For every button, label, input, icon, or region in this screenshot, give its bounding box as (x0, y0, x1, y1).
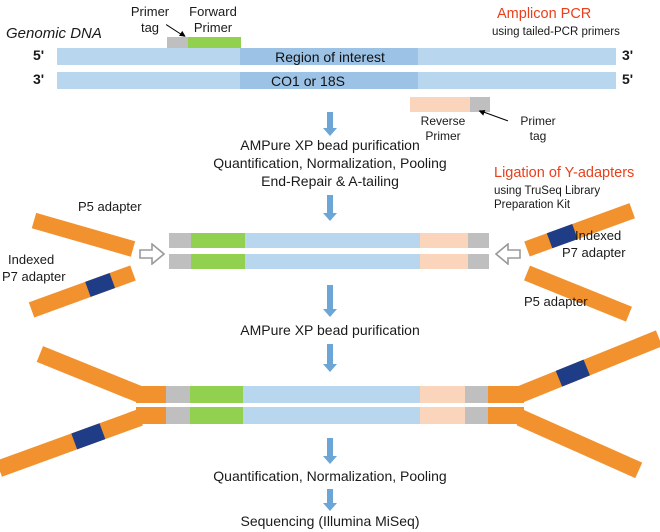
reverse-primer-segment (420, 233, 468, 248)
right-p7-adapter-label-line1: Indexed (575, 228, 621, 244)
left-p5-adapter-label: P5 adapter (78, 199, 142, 215)
reverse-primer-segment (420, 386, 465, 403)
final-left-p7-arm (0, 410, 143, 477)
region-of-interest-label: Region of interest (275, 49, 385, 65)
right-p5-adapter-label: P5 adapter (524, 294, 588, 310)
reverse-primer-tag-label-line1: Primer (520, 114, 555, 129)
forward-primer-label-line2: Primer (194, 20, 232, 36)
region-of-interest-segment (245, 233, 420, 248)
index-barcode-segment (71, 423, 105, 449)
p5-adapter-segment (136, 386, 166, 403)
p5-adapter-segment (488, 407, 524, 424)
flank-left-segment (57, 48, 240, 65)
right-p7-adapter-label-line2: P7 adapter (562, 245, 626, 261)
p7-adapter-segment (136, 407, 166, 424)
process-arrow-2-icon (323, 195, 337, 221)
bottom-strand-right-tick: 5' (622, 71, 633, 87)
ligation-subheading-line2: Preparation Kit (494, 198, 570, 212)
step4-line1: AMPure XP bead purification (240, 322, 420, 338)
index-barcode-segment (85, 273, 115, 297)
forward-primer-segment (191, 233, 245, 248)
reverse-primer-tag-label-line2: tag (530, 129, 547, 144)
flank-right-segment (418, 48, 616, 65)
top-strand-right-tick: 3' (622, 47, 633, 63)
primer-tag-segment (465, 386, 488, 403)
forward-primer-segment (191, 254, 245, 269)
genomic-dna-label: Genomic DNA (6, 26, 102, 42)
final-library-duplex-top (136, 386, 524, 403)
region-of-interest-segment (243, 386, 420, 403)
forward-primer-segment (190, 386, 243, 403)
amplicon-pcr-heading: Amplicon PCR (497, 6, 591, 22)
reverse-primer-segment (420, 407, 465, 424)
flank-right-segment (418, 72, 616, 89)
left-p7-adapter-label-line1: Indexed (8, 252, 54, 268)
diagram-canvas: Genomic DNA Primer tag Forward Primer Am… (0, 0, 660, 532)
process-arrow-6-icon (323, 489, 337, 511)
forward-primer-label-line1: Forward (189, 4, 237, 20)
primer-tag-segment (166, 386, 190, 403)
reverse-primer-label-line2: Primer (425, 129, 460, 144)
primer-tag-segment (468, 254, 489, 269)
region-of-interest-segment (243, 407, 420, 424)
primer-tag-label-line1: Primer (131, 4, 169, 20)
region-of-interest-segment (245, 254, 420, 269)
left-p7-adapter-label-line2: P7 adapter (2, 269, 66, 285)
amplicon-duplex-bottom (169, 254, 489, 269)
step2-line1: AMPure XP bead purification (240, 137, 420, 153)
step6-line1: Sequencing (Illumina MiSeq) (241, 513, 420, 529)
primer-tag-segment (468, 233, 489, 248)
primer-tag-segment (166, 407, 190, 424)
left-p5-adapter-arm (32, 213, 135, 257)
primer-tag-pointer-icon (166, 24, 185, 37)
target-gene-label: CO1 or 18S (271, 73, 345, 89)
bottom-strand-left-tick: 3' (33, 71, 44, 87)
ligation-heading: Ligation of Y-adapters (494, 165, 634, 181)
forward-primer-segment (190, 407, 243, 424)
final-library-duplex-bottom (136, 407, 524, 424)
p7-adapter-segment (488, 386, 524, 403)
final-right-p7-arm (517, 330, 660, 402)
reverse-primer-segment (420, 254, 468, 269)
process-arrow-5-icon (323, 438, 337, 464)
primer-tag-segment (465, 407, 488, 424)
flank-left-segment (57, 72, 240, 89)
top-strand-left-tick: 5' (33, 47, 44, 63)
step2-line3: End-Repair & A-tailing (261, 173, 399, 189)
primer-tag-segment (169, 233, 191, 248)
step5-line1: Quantification, Normalization, Pooling (213, 468, 446, 484)
primer-tag-label-line2: tag (141, 20, 159, 36)
process-arrow-4-icon (323, 344, 337, 372)
ligation-arrow-right-icon (139, 243, 165, 265)
primer-tag-segment (169, 254, 191, 269)
reverse-primer-segment (410, 97, 470, 112)
amplicon-pcr-subheading: using tailed-PCR primers (492, 25, 620, 39)
reverse-primer-tag-pointer-icon (480, 110, 509, 122)
final-left-p5-arm (37, 346, 144, 402)
process-arrow-3-icon (323, 285, 337, 317)
process-arrow-1-icon (323, 112, 337, 136)
amplicon-duplex-top (169, 233, 489, 248)
ligation-subheading-line1: using TruSeq Library (494, 184, 600, 198)
reverse-primer-label-line1: Reverse (421, 114, 466, 129)
ligation-arrow-left-icon (495, 243, 521, 265)
final-right-p5-arm (517, 410, 643, 478)
index-barcode-segment (556, 360, 590, 387)
step2-line2: Quantification, Normalization, Pooling (213, 155, 446, 171)
